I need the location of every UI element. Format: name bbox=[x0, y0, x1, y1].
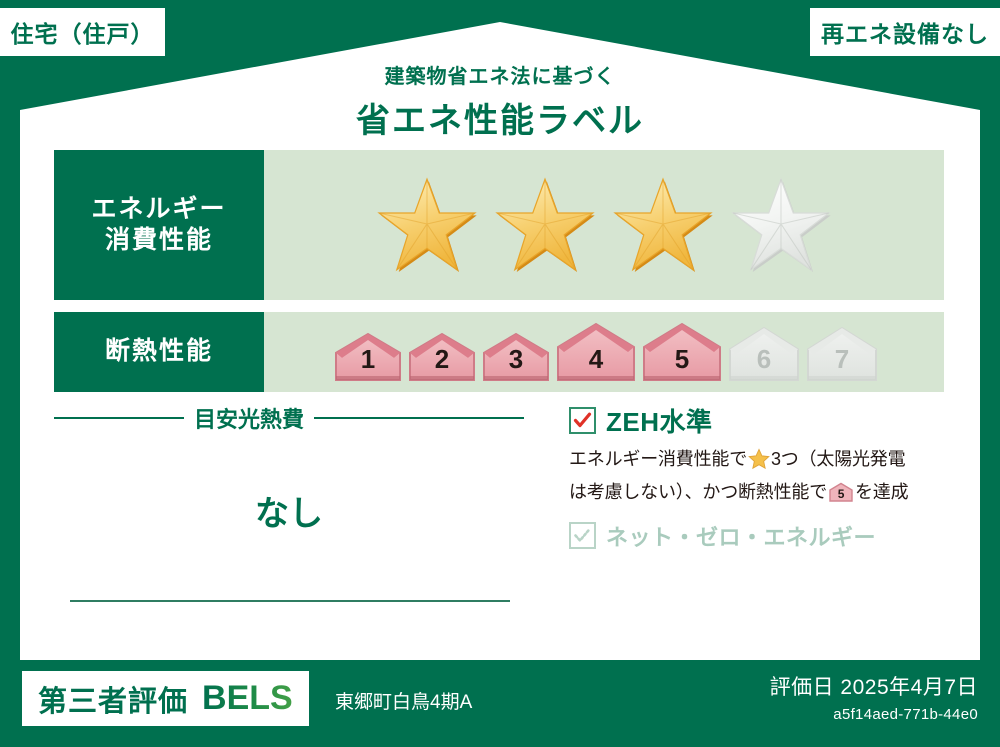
net-zero-energy-title: ネット・ゼロ・エネルギー bbox=[606, 520, 876, 552]
zeh-description: エネルギー消費性能で3つ（太陽光発電は考慮しない）、かつ断熱性能で5を達成 bbox=[569, 446, 964, 512]
insulation-performance-row: 断熱性能 1234567 bbox=[54, 312, 944, 392]
zeh-description-star-count: 3つ（太陽光発電 bbox=[771, 449, 905, 469]
utility-cost-block: 目安光熱費 なし bbox=[54, 402, 524, 535]
grade-number-label: 7 bbox=[805, 344, 879, 375]
insulation-grade-7: 7 bbox=[805, 325, 879, 383]
label-footer: 第三者評価 BELS 東郷町白鳥4期A 評価日 2025年4月7日 a5f14a… bbox=[0, 659, 1000, 747]
insulation-grade-6: 6 bbox=[727, 325, 801, 383]
insulation-grade-3: 3 bbox=[481, 331, 551, 383]
energy-performance-label-line2: 消費性能 bbox=[105, 225, 213, 256]
evaluation-date-label: 評価日 bbox=[770, 676, 835, 699]
energy-performance-value bbox=[264, 150, 944, 300]
label-title: 省エネ性能ラベル bbox=[0, 93, 1000, 142]
evaluation-date-value: 2025年4月7日 bbox=[840, 676, 978, 699]
zeh-description-part2: は考慮しない）、かつ断熱性能で bbox=[569, 482, 827, 502]
svg-text:5: 5 bbox=[838, 487, 845, 501]
insulation-grade-1: 1 bbox=[333, 331, 403, 383]
grade-number-label: 4 bbox=[555, 344, 637, 375]
label-panel: エネルギー 消費性能 断熱性能 1234567 目安光熱費 bbox=[22, 140, 978, 648]
zeh-standard-title: ZEH水準 bbox=[606, 402, 713, 439]
renewable-energy-tag: 再エネ設備なし bbox=[810, 8, 1000, 56]
bels-logo-text: BELS bbox=[202, 679, 293, 718]
star-filled-icon bbox=[375, 175, 479, 275]
check-icon bbox=[573, 411, 592, 430]
heading-rule-left bbox=[54, 417, 184, 419]
insulation-performance-value: 1234567 bbox=[264, 312, 944, 392]
heading-rule-right bbox=[314, 417, 524, 419]
utility-cost-heading: 目安光熱費 bbox=[54, 402, 524, 434]
insulation-grade-4: 4 bbox=[555, 321, 637, 383]
site-name: 東郷町白鳥4期A bbox=[335, 687, 472, 714]
evaluation-info: 評価日 2025年4月7日 a5f14aed-771b-44e0 bbox=[770, 671, 978, 723]
insulation-grade-2: 2 bbox=[407, 331, 477, 383]
star-empty-icon bbox=[729, 175, 833, 275]
grade-number-label: 6 bbox=[727, 344, 801, 375]
star-filled-icon bbox=[493, 175, 597, 275]
insulation-performance-label: 断熱性能 bbox=[54, 312, 264, 392]
zeh-block: ZEH水準 エネルギー消費性能で3つ（太陽光発電は考慮しない）、かつ断熱性能で5… bbox=[569, 402, 964, 552]
renewable-energy-tag-label: 再エネ設備なし bbox=[821, 15, 989, 49]
utility-cost-value: なし bbox=[54, 486, 524, 535]
utility-cost-heading-label: 目安光熱費 bbox=[194, 402, 304, 434]
label-lower-section: 目安光熱費 なし ZEH水準 エネルギー消費性能で3つ（太陽 bbox=[54, 402, 944, 632]
insulation-grade-scale: 1234567 bbox=[329, 321, 879, 383]
bels-energy-label: 住宅（住戸） 再エネ設備なし 建築物省エネ法に基づく 省エネ性能ラベル エネルギ… bbox=[0, 0, 1000, 747]
bels-logo-plate: 第三者評価 BELS bbox=[22, 671, 309, 726]
zeh-standard-line: ZEH水準 bbox=[569, 402, 964, 439]
net-zero-checkbox-unchecked bbox=[569, 522, 596, 549]
label-subtitle: 建築物省エネ法に基づく bbox=[0, 60, 1000, 89]
grade-number-label: 1 bbox=[333, 344, 403, 375]
grade-number-label: 3 bbox=[481, 344, 551, 375]
check-icon-faded bbox=[573, 526, 592, 545]
inline-star-icon bbox=[748, 448, 770, 479]
grade-number-label: 2 bbox=[407, 344, 477, 375]
insulation-grade-5: 5 bbox=[641, 321, 723, 383]
energy-performance-row: エネルギー 消費性能 bbox=[54, 150, 944, 300]
energy-performance-label: エネルギー 消費性能 bbox=[54, 150, 264, 300]
inline-grade-house-icon: 5 bbox=[828, 482, 854, 512]
insulation-performance-label-line1: 断熱性能 bbox=[105, 336, 213, 367]
zeh-checkbox-checked bbox=[569, 407, 596, 434]
energy-performance-label-line1: エネルギー bbox=[91, 194, 226, 225]
utility-cost-bottom-rule bbox=[70, 600, 510, 602]
building-type-tag-label: 住宅（住戸） bbox=[11, 15, 155, 49]
net-zero-energy-line: ネット・ゼロ・エネルギー bbox=[569, 520, 964, 552]
star-filled-icon bbox=[611, 175, 715, 275]
zeh-description-part3: を達成 bbox=[855, 482, 908, 502]
label-title-block: 建築物省エネ法に基づく 省エネ性能ラベル bbox=[0, 60, 1000, 142]
star-rating bbox=[375, 175, 833, 275]
evaluation-id: a5f14aed-771b-44e0 bbox=[770, 706, 978, 723]
building-type-tag: 住宅（住戸） bbox=[0, 8, 165, 56]
evaluation-date: 評価日 2025年4月7日 bbox=[770, 671, 978, 701]
grade-number-label: 5 bbox=[641, 344, 723, 375]
zeh-description-part1: エネルギー消費性能で bbox=[569, 449, 747, 469]
third-party-evaluation-label: 第三者評価 bbox=[38, 678, 188, 720]
